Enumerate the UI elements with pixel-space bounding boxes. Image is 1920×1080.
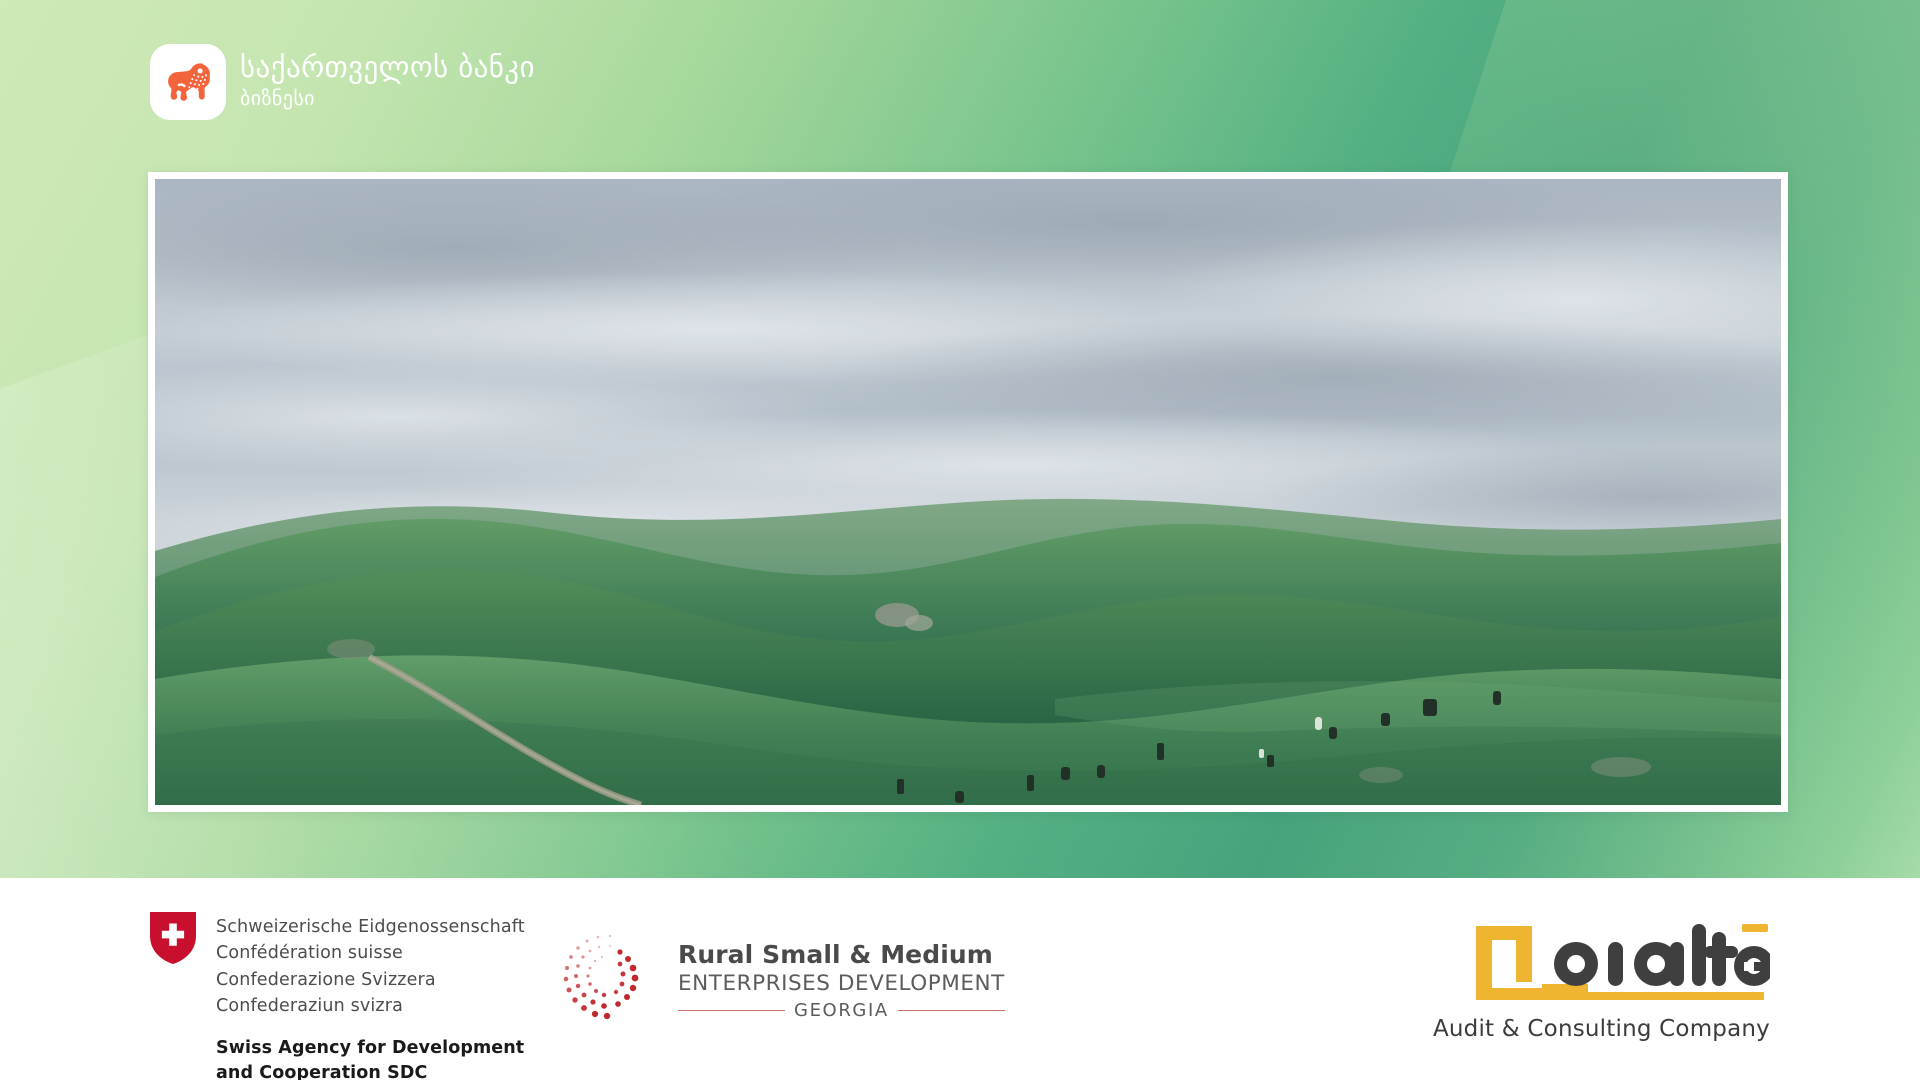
swiss-logo-text: Schweizerische Eidgenossenschaft Confédé… [216, 912, 525, 1080]
loialte-wordmark-icon [1433, 922, 1770, 1012]
swiss-shield-icon [150, 912, 196, 968]
rsmed-line-2: ENTERPRISES DEVELOPMENT [678, 971, 1005, 997]
rsmed-logo-text: Rural Small & Medium ENTERPRISES DEVELOP… [678, 939, 1005, 1021]
rsmed-rule-right [898, 1010, 1005, 1012]
rsmed-country: GEORGIA [794, 1000, 889, 1021]
swiss-agency-line-1: Swiss Agency for Development [216, 1036, 525, 1061]
hero-photo-card [148, 172, 1788, 812]
rsmed-georgia-logo: Rural Small & Medium ENTERPRISES DEVELOP… [558, 926, 1005, 1034]
presentation-slide: საქართველოს ბანკი ბიზნესი [0, 0, 1920, 1080]
rsmed-line-1: Rural Small & Medium [678, 941, 1005, 969]
bank-of-georgia-lion-icon [150, 44, 226, 120]
hero-landscape-photo [155, 179, 1781, 805]
brand-lockup: საქართველოს ბანკი ბიზნესი [150, 44, 535, 120]
swiss-lang-rm: Confederaziun svizra [216, 993, 525, 1019]
partner-logos-footer: Schweizerische Eidgenossenschaft Confédé… [0, 878, 1920, 1080]
brand-name: საქართველოს ბანკი [240, 52, 535, 82]
rsmed-line-3: GEORGIA [678, 1000, 1005, 1021]
brand-subtitle: ბიზნესი [240, 86, 535, 110]
swiss-lang-it: Confederazione Svizzera [216, 967, 525, 993]
rsmed-dotted-swirl-icon [558, 926, 662, 1034]
rsmed-rule-left [678, 1010, 785, 1012]
swiss-confederation-logo: Schweizerische Eidgenossenschaft Confédé… [150, 912, 525, 1080]
loialte-logo: Audit & Consulting Company [1433, 922, 1770, 1042]
swiss-lang-de: Schweizerische Eidgenossenschaft [216, 914, 525, 940]
brand-text: საქართველოს ბანკი ბიზნესი [240, 44, 535, 110]
swiss-agency-line-2: and Cooperation SDC [216, 1061, 525, 1080]
swiss-agency-name: Swiss Agency for Development and Coopera… [216, 1036, 525, 1080]
loialte-tagline: Audit & Consulting Company [1433, 1016, 1770, 1042]
swiss-lang-fr: Confédération suisse [216, 940, 525, 966]
